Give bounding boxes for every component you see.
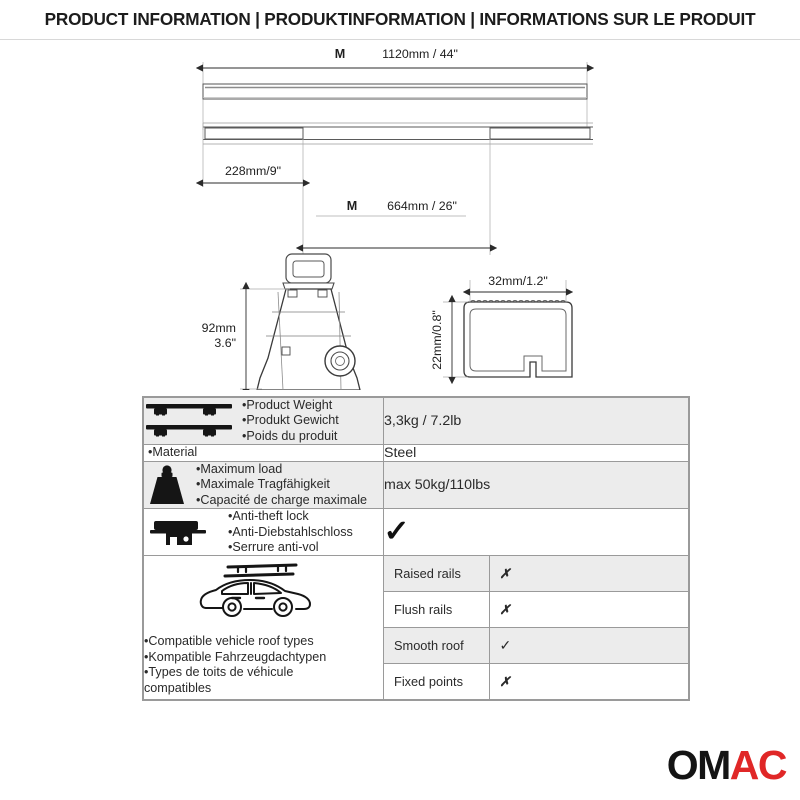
spec-value-weight: 3,3kg / 7.2lb [384, 398, 689, 445]
roof-type-row: Fixed points ✗ [384, 664, 688, 700]
roof-type-mark: ✗ [489, 556, 688, 592]
spec-label-cell-material: •Material [144, 445, 384, 462]
omac-logo: OMAC [667, 745, 786, 786]
spec-label-cell-roof-types: •Compatible vehicle roof types •Kompatib… [144, 556, 384, 700]
roof-type-name: Fixed points [384, 664, 489, 700]
spec-label-cell-lock: •Anti-theft lock •Anti-Diebstahlschloss … [144, 509, 384, 556]
roof-types-cell: Raised rails ✗ Flush rails ✗ [384, 556, 689, 700]
checkmark-icon: ✓ [383, 517, 409, 547]
spec-value-material: Steel [384, 445, 689, 462]
crossbars-icon [144, 398, 236, 444]
roof-type-name: Flush rails [384, 592, 489, 628]
weight-icon [144, 463, 190, 507]
spec-label-material: •Material [144, 445, 197, 460]
spec-value-lock: ✓ [384, 509, 689, 556]
logo-text-red: AC [730, 742, 786, 788]
dim-spread-prefix: M [347, 199, 358, 213]
page-header: PRODUCT INFORMATION | PRODUKTINFORMATION… [0, 0, 800, 40]
dim-spread-length: 664mm / 26" [387, 199, 457, 213]
roof-type-name: Smooth roof [384, 628, 489, 664]
roof-type-row: Smooth roof ✓ [384, 628, 688, 664]
spec-label-maxload: •Maximum load •Maximale Tragfähigkeit •C… [196, 462, 367, 508]
table-row: •Anti-theft lock •Anti-Diebstahlschloss … [144, 509, 689, 556]
page-title: PRODUCT INFORMATION | PRODUKTINFORMATION… [45, 9, 756, 30]
dim-profile-width: 32mm/1.2" [488, 274, 548, 288]
table-row: •Compatible vehicle roof types •Kompatib… [144, 556, 689, 700]
spec-value-maxload: max 50kg/110lbs [384, 462, 689, 509]
roof-types-table: Raised rails ✗ Flush rails ✗ [384, 556, 688, 699]
roof-type-row: Raised rails ✗ [384, 556, 688, 592]
logo-text-dark: OM [667, 742, 730, 788]
dim-end-offset: 228mm/9" [225, 164, 281, 178]
specification-table: •Product Weight •Produkt Gewicht •Poids … [142, 396, 690, 701]
dim-foot-width: 104mm / 4" [278, 389, 341, 390]
roof-type-mark: ✗ [489, 592, 688, 628]
spec-label-cell-weight: •Product Weight •Produkt Gewicht •Poids … [144, 398, 384, 445]
spec-label-cell-maxload: •Maximum load •Maximale Tragfähigkeit •C… [144, 462, 384, 509]
lock-icon [148, 512, 222, 552]
roof-type-mark: ✗ [489, 664, 688, 700]
spec-label-weight: •Product Weight •Produkt Gewicht •Poids … [242, 398, 339, 444]
dim-profile-height: 22mm/0.8" [430, 310, 444, 370]
roof-type-name: Raised rails [384, 556, 489, 592]
dim-foot-height: 92mm3.6" [202, 321, 236, 350]
car-with-rack-icon [192, 561, 320, 628]
table-row: •Material Steel [144, 445, 689, 462]
roof-type-row: Flush rails ✗ [384, 592, 688, 628]
spec-label-lock: •Anti-theft lock •Anti-Diebstahlschloss … [228, 509, 353, 555]
table-row: •Product Weight •Produkt Gewicht •Poids … [144, 398, 689, 445]
table-row: •Maximum load •Maximale Tragfähigkeit •C… [144, 462, 689, 509]
technical-drawing: M 1120mm / 44" 228mm/9" M 664mm / 26" 92… [0, 40, 800, 390]
product-information-sheet: PRODUCT INFORMATION | PRODUKTINFORMATION… [0, 0, 800, 800]
dim-total-prefix: M [335, 47, 346, 61]
spec-label-roof-types: •Compatible vehicle roof types •Kompatib… [144, 634, 326, 697]
dim-total-length: 1120mm / 44" [382, 47, 458, 61]
roof-type-mark: ✓ [489, 628, 688, 664]
